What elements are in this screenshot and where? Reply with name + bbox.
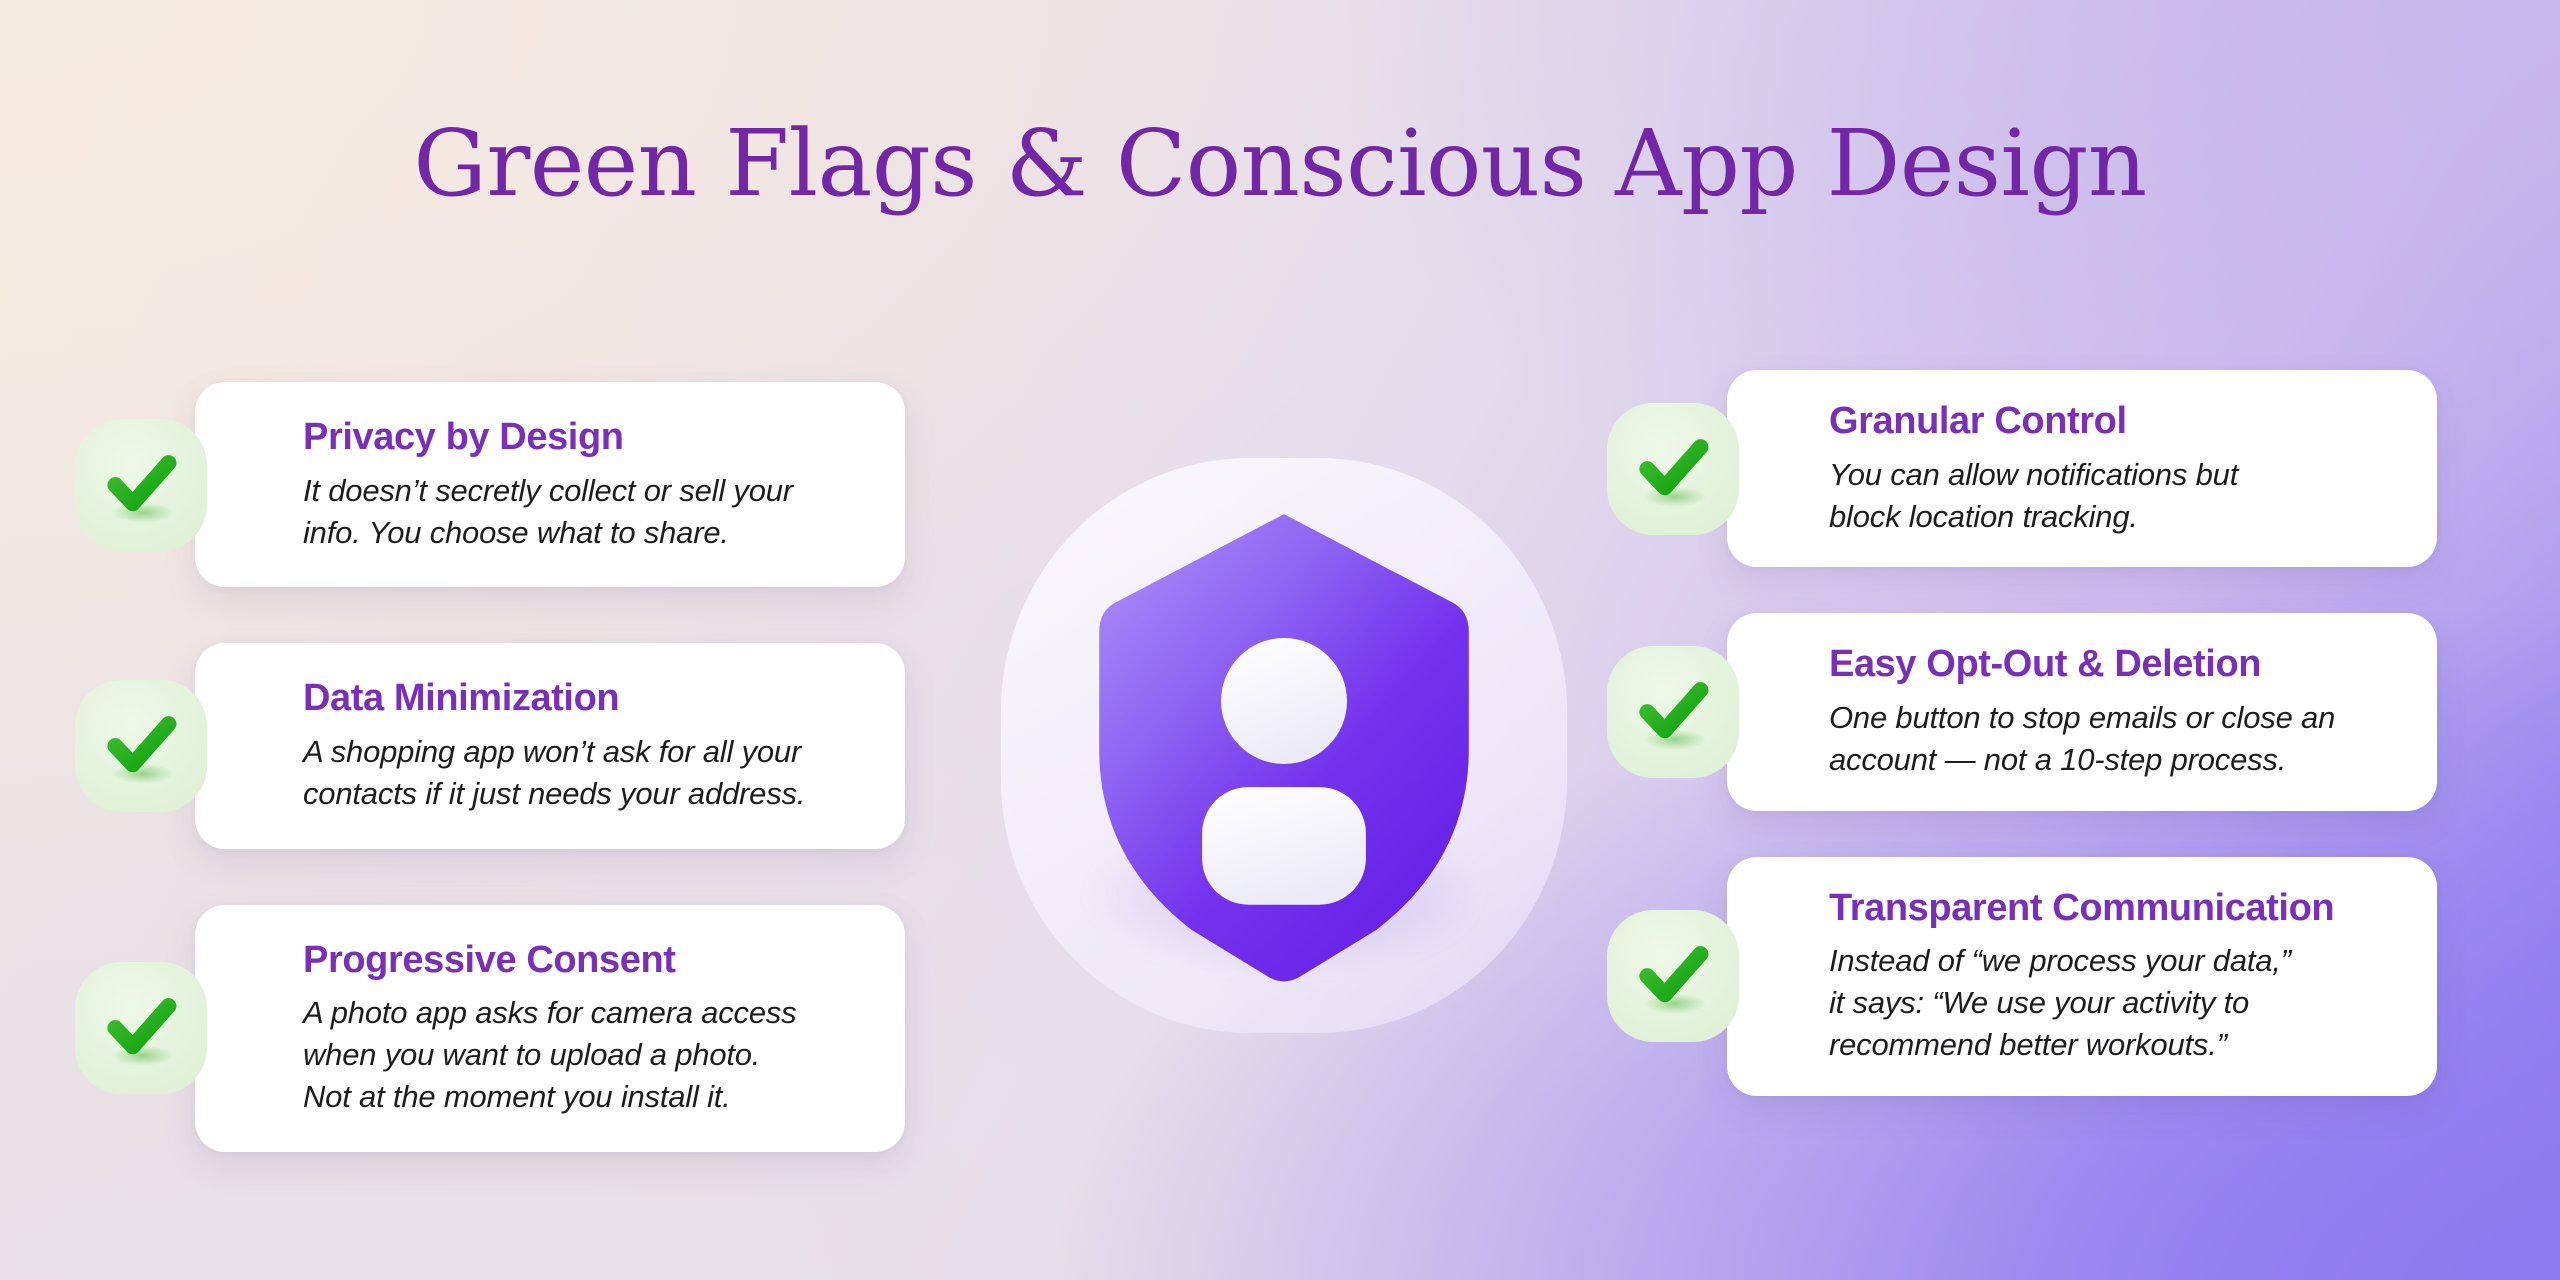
card-body: A photo app asks for camera access when … bbox=[303, 992, 863, 1118]
card-body: Instead of “we process your data,” it sa… bbox=[1829, 940, 2397, 1066]
card-title: Data Minimization bbox=[303, 677, 863, 721]
card-body: It doesn’t secretly collect or sell your… bbox=[303, 470, 863, 554]
right-card-column: Granular Control You can allow notificat… bbox=[1727, 370, 2437, 1096]
card-title: Granular Control bbox=[1829, 400, 2397, 444]
left-card-column: Privacy by Design It doesn’t secretly co… bbox=[195, 382, 905, 1152]
card-title: Easy Opt-Out & Deletion bbox=[1829, 643, 2397, 687]
page-title: Green Flags & Conscious App Design bbox=[0, 118, 2560, 210]
green-check-icon bbox=[1607, 910, 1739, 1042]
card-body: One button to stop emails or close an ac… bbox=[1829, 697, 2397, 781]
card-body: You can allow notifications but block lo… bbox=[1829, 454, 2397, 538]
feature-card: Transparent Communication Instead of “we… bbox=[1727, 857, 2437, 1096]
green-check-icon bbox=[75, 680, 207, 812]
feature-card: Data Minimization A shopping app won’t a… bbox=[195, 643, 905, 848]
center-emblem bbox=[1001, 458, 1567, 1033]
green-check-icon bbox=[75, 419, 207, 551]
feature-card: Privacy by Design It doesn’t secretly co… bbox=[195, 382, 905, 587]
green-check-icon bbox=[1607, 403, 1739, 535]
shield-person-icon bbox=[1069, 501, 1499, 984]
feature-card: Easy Opt-Out & Deletion One button to st… bbox=[1727, 613, 2437, 810]
green-check-icon bbox=[75, 962, 207, 1094]
card-title: Privacy by Design bbox=[303, 416, 863, 460]
green-check-icon bbox=[1607, 646, 1739, 778]
feature-card: Granular Control You can allow notificat… bbox=[1727, 370, 2437, 567]
feature-card: Progressive Consent A photo app asks for… bbox=[195, 905, 905, 1152]
card-title: Progressive Consent bbox=[303, 939, 863, 983]
card-title: Transparent Communication bbox=[1829, 887, 2397, 931]
card-body: A shopping app won’t ask for all your co… bbox=[303, 731, 863, 815]
